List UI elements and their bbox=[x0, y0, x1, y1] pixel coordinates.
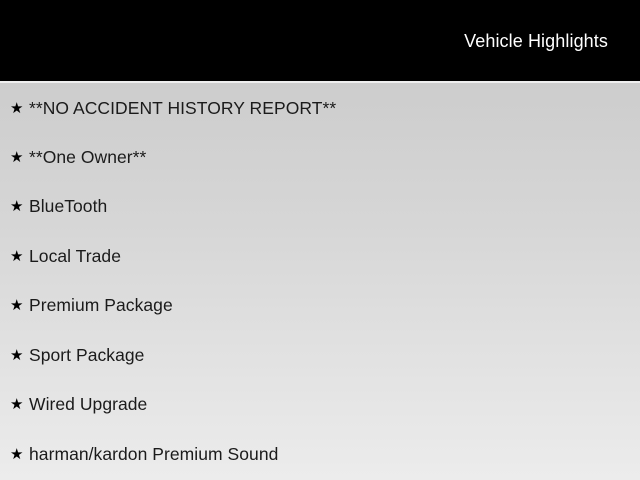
highlight-label: Wired Upgrade bbox=[29, 394, 147, 415]
list-item: ★ BlueTooth bbox=[0, 182, 640, 232]
highlight-label: Local Trade bbox=[29, 246, 121, 267]
vehicle-highlights-page: Vehicle Highlights ★ **NO ACCIDENT HISTO… bbox=[0, 0, 640, 480]
star-icon: ★ bbox=[10, 447, 29, 462]
list-item: ★ Premium Package bbox=[0, 281, 640, 331]
highlight-label: Sport Package bbox=[29, 345, 144, 366]
star-icon: ★ bbox=[10, 150, 29, 165]
star-icon: ★ bbox=[10, 199, 29, 214]
page-header: Vehicle Highlights bbox=[0, 0, 640, 81]
highlights-panel: ★ **NO ACCIDENT HISTORY REPORT** ★ **One… bbox=[0, 83, 640, 480]
list-item: ★ Wired Upgrade bbox=[0, 380, 640, 430]
highlight-label: **One Owner** bbox=[29, 147, 146, 168]
list-item: ★ Sport Package bbox=[0, 331, 640, 381]
highlight-label: **NO ACCIDENT HISTORY REPORT** bbox=[29, 98, 336, 119]
star-icon: ★ bbox=[10, 397, 29, 412]
star-icon: ★ bbox=[10, 249, 29, 264]
star-icon: ★ bbox=[10, 348, 29, 363]
list-item: ★ Local Trade bbox=[0, 232, 640, 282]
list-item: ★ **NO ACCIDENT HISTORY REPORT** bbox=[0, 83, 640, 133]
star-icon: ★ bbox=[10, 298, 29, 313]
highlight-label: harman/kardon Premium Sound bbox=[29, 444, 278, 465]
highlights-list: ★ **NO ACCIDENT HISTORY REPORT** ★ **One… bbox=[0, 83, 640, 479]
list-item: ★ harman/kardon Premium Sound bbox=[0, 430, 640, 480]
highlight-label: BlueTooth bbox=[29, 196, 107, 217]
star-icon: ★ bbox=[10, 101, 29, 116]
page-title: Vehicle Highlights bbox=[464, 30, 608, 52]
highlight-label: Premium Package bbox=[29, 295, 173, 316]
list-item: ★ **One Owner** bbox=[0, 133, 640, 183]
